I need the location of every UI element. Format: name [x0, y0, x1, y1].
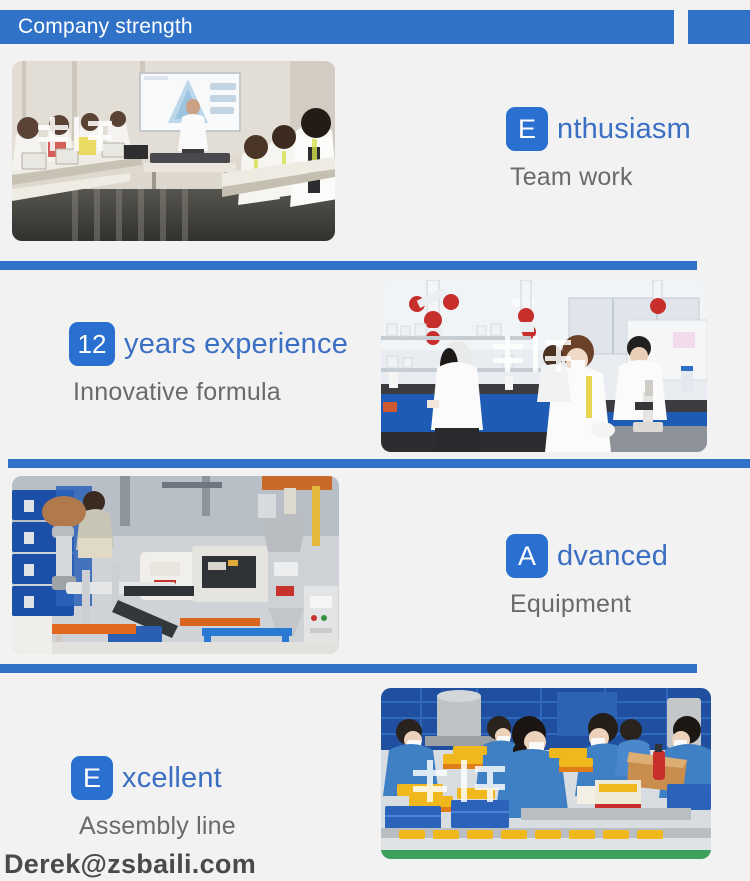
feature-title-row: 12 years experience	[69, 322, 348, 366]
page-title: Company strength	[18, 15, 193, 39]
feature-photo-training	[12, 61, 335, 241]
feature-badge-number: 12	[69, 322, 115, 366]
email-watermark: Derek@zsbaili.com	[4, 849, 256, 880]
feature-subtitle: Equipment	[510, 590, 668, 619]
feature-subtitle: Team work	[510, 163, 691, 192]
feature-text-excellent: E xcellent Assembly line	[71, 756, 236, 841]
factory-machinery-photo	[12, 476, 339, 654]
feature-badge-letter: E	[506, 107, 548, 151]
feature-photo-assembly	[381, 688, 711, 859]
section-divider-2	[8, 459, 750, 468]
section-divider-3	[0, 664, 697, 673]
company-strength-banner: Company strength	[0, 0, 750, 881]
feature-title-row: E xcellent	[71, 756, 236, 800]
assembly-line-workers-photo	[381, 688, 711, 859]
feature-badge-letter: A	[506, 534, 548, 578]
feature-photo-equipment	[12, 476, 339, 654]
feature-title-text: dvanced	[557, 540, 668, 573]
feature-photo-laboratory	[381, 280, 707, 452]
feature-text-experience: 12 years experience Innovative formula	[69, 322, 348, 407]
feature-subtitle: Assembly line	[79, 812, 236, 841]
feature-title-row: E nthusiasm	[506, 107, 691, 151]
feature-title-text: xcellent	[122, 762, 222, 795]
feature-subtitle: Innovative formula	[73, 378, 348, 407]
feature-text-enthusiasm: E nthusiasm Team work	[506, 107, 691, 192]
header-bar: Company strength	[0, 10, 674, 44]
feature-badge-letter: E	[71, 756, 113, 800]
feature-text-advanced: A dvanced Equipment	[506, 534, 668, 619]
header-accent-block	[688, 10, 750, 44]
feature-title-text: nthusiasm	[557, 113, 691, 146]
laboratory-technicians-photo	[381, 280, 707, 452]
training-meeting-room-photo	[12, 61, 335, 241]
section-divider-1	[0, 261, 697, 270]
feature-title-text: years experience	[124, 328, 348, 361]
feature-title-row: A dvanced	[506, 534, 668, 578]
